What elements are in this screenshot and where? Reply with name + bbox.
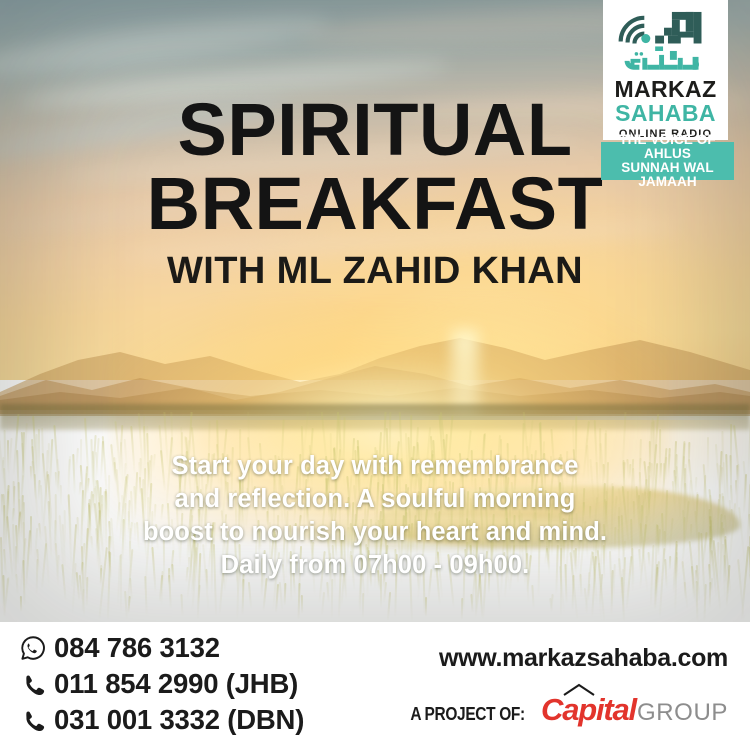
sponsor-name: Capital: [541, 694, 636, 725]
markaz-sahaba-logo-card: MARKAZ SAHABA ONLINE RADIO: [603, 0, 728, 140]
sponsor-block: A PROJECT OF: Capital GROUP: [401, 694, 728, 725]
poster-canvas: SPIRITUAL BREAKFAST WITH ML ZAHID KHAN S…: [0, 0, 750, 750]
banner-line-2: SUNNAH WAL JAMAAH: [601, 161, 734, 189]
project-of-label: A PROJECT OF:: [410, 704, 525, 725]
arabic-sahaba-wordmark-icon: [614, 49, 718, 75]
body-copy-line-1: Start your day with remembrance: [0, 450, 750, 483]
website-url[interactable]: www.markazsahaba.com: [439, 644, 728, 673]
body-copy-line-4: Daily from 07h00 - 09h00.: [0, 549, 750, 582]
contact-row[interactable]: 031 001 3332 (DBN): [16, 702, 304, 738]
body-copy-block: Start your day with remembrance and refl…: [0, 450, 750, 582]
sponsor-suffix: GROUP: [637, 701, 728, 725]
contact-number: 084 786 3132: [54, 632, 220, 664]
logo-name-sahaba: SAHABA: [615, 102, 716, 125]
body-copy-line-2: and reflection. A soulful morning: [0, 483, 750, 516]
contact-row[interactable]: 011 854 2990 (JHB): [16, 666, 304, 702]
phone-icon: [16, 669, 50, 699]
markaz-sahaba-wifi-kufic-icon: [612, 8, 720, 51]
house-roof-icon: [562, 683, 596, 696]
body-copy-line-3: boost to nourish your heart and mind.: [0, 516, 750, 549]
headline-subtitle: WITH ML ZAHID KHAN: [0, 254, 750, 289]
contact-list: 084 786 3132 011 854 2990 (JHB) 031 001 …: [16, 630, 304, 738]
phone-icon: [16, 705, 50, 735]
whatsapp-icon: [16, 633, 50, 663]
logo-tagline-banner: THE VOICE OF AHLUS SUNNAH WAL JAMAAH: [601, 142, 734, 180]
footer-bar: 084 786 3132 011 854 2990 (JHB) 031 001 …: [0, 622, 750, 750]
contact-number: 031 001 3332 (DBN): [54, 704, 304, 736]
capital-group-logo: Capital GROUP: [541, 694, 728, 725]
logo-name-markaz: MARKAZ: [614, 78, 716, 101]
banner-line-1: THE VOICE OF AHLUS: [601, 133, 734, 161]
contact-number: 011 854 2990 (JHB): [54, 668, 298, 700]
contact-row[interactable]: 084 786 3132: [16, 630, 304, 666]
